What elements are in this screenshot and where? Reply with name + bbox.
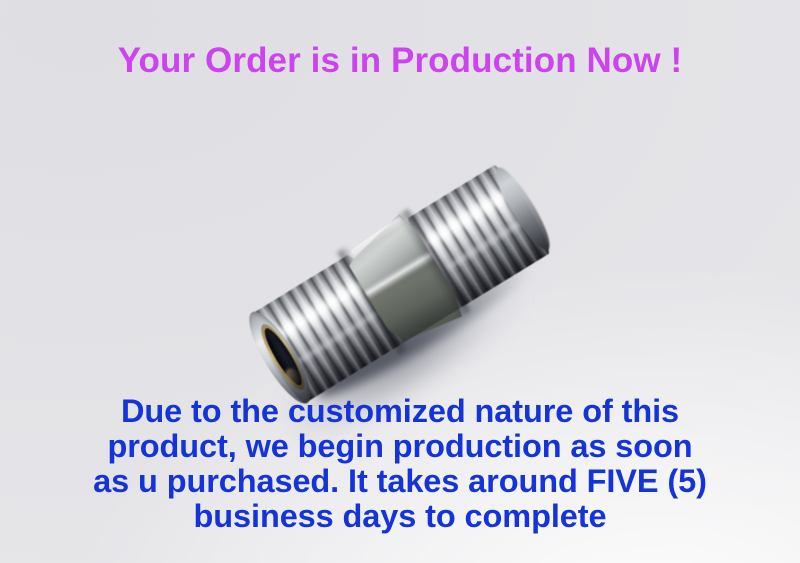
- right-specular-band: [421, 181, 518, 252]
- notice-line-4: business days to complete: [0, 499, 800, 534]
- hex-face-lower: [367, 255, 467, 353]
- notice-line-2: product, we begin production as soon: [0, 429, 800, 464]
- notice-line-1: Due to the customized nature of this: [0, 394, 800, 429]
- bore-rim-gleam: [283, 366, 303, 388]
- left-thread-highlights: [248, 252, 406, 404]
- product-overall-shading: [245, 161, 555, 406]
- hex-upper-highlight: [346, 215, 407, 257]
- left-thread-barrel: [248, 252, 406, 404]
- production-notice: Due to the customized nature of this pro…: [0, 394, 800, 534]
- right-lower-specular: [444, 216, 528, 273]
- hex-pipe-nipple-body: [245, 161, 555, 406]
- product-contact-shadow: [310, 254, 540, 408]
- hex-face-upper: [340, 211, 433, 297]
- hex-right-shadow: [396, 209, 471, 319]
- left-specular-band: [268, 273, 372, 348]
- right-thread-highlights: [404, 162, 554, 309]
- page-title: Your Order is in Production Now !: [0, 40, 800, 82]
- left-thread-grooves: [248, 252, 406, 404]
- hex-edge-highlight: [364, 250, 435, 300]
- promotional-banner: Your Order is in Production Now ! Due to…: [0, 0, 800, 563]
- right-thread-grooves: [404, 162, 554, 309]
- hex-wrench-flats: [340, 211, 468, 353]
- hex-left-shadow: [337, 246, 410, 355]
- pipe-bore-opening: [260, 325, 307, 389]
- bore-inner-rim: [254, 319, 311, 394]
- notice-line-3: as u purchased. It takes around FIVE (5): [0, 464, 800, 499]
- right-thread-barrel: [404, 162, 554, 309]
- right-end-face: [488, 162, 557, 255]
- left-lower-specular: [293, 309, 380, 368]
